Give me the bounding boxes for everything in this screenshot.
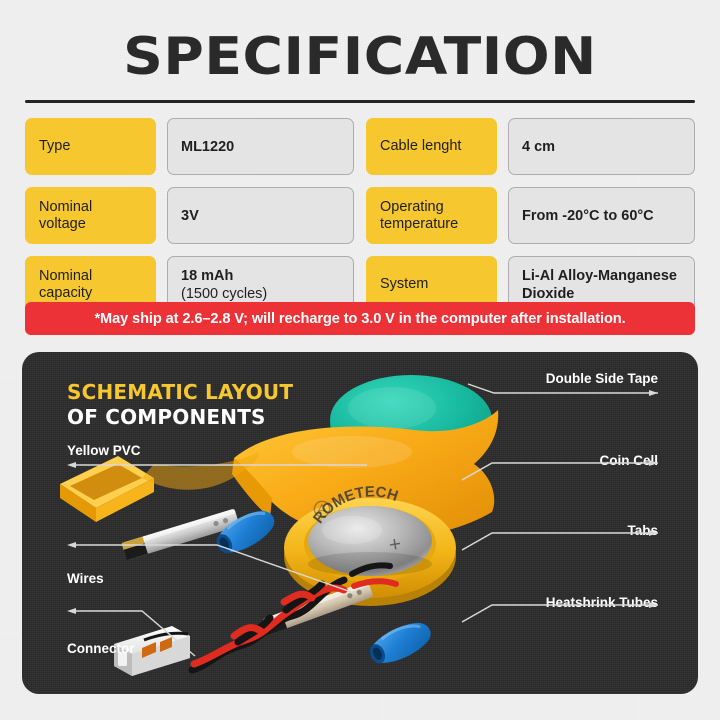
spec-value: 3V xyxy=(167,187,354,244)
heatshrink-tube-lower xyxy=(365,616,436,670)
spec-value: From -20°C to 60°C xyxy=(508,187,695,244)
spec-label: Cable lenght xyxy=(366,118,497,175)
spec-row: Cable lenght 4 cm xyxy=(366,118,695,175)
spec-column-right: Cable lenght 4 cm Operatingtemperature F… xyxy=(366,118,695,313)
callout-yellow-pvc: Yellow PVC xyxy=(67,448,367,470)
spec-label: Nominalvoltage xyxy=(25,187,156,244)
leader-line xyxy=(462,446,658,480)
callout-tabs: Tabs xyxy=(462,516,658,550)
leader-line xyxy=(67,594,197,668)
spec-value-main: From -20°C to 60°C xyxy=(522,208,654,224)
leader-line xyxy=(468,376,658,398)
spec-row: Type ML1220 xyxy=(25,118,354,175)
callout-double-side-tape: Double Side Tape xyxy=(468,376,658,398)
page-title: SPECIFICATION xyxy=(0,26,720,88)
spec-label: Type xyxy=(25,118,156,175)
leader-line xyxy=(67,448,367,470)
title-divider xyxy=(25,100,695,103)
spec-value-main: 18 mAh xyxy=(181,268,233,284)
leader-line xyxy=(462,588,658,622)
callout-connector: Connector xyxy=(67,594,197,668)
spec-row: Operatingtemperature From -20°C to 60°C xyxy=(366,187,695,244)
callout-heatshrink-tubes: Heatshrink Tubes xyxy=(462,588,658,622)
callout-wires: Wires xyxy=(67,528,357,598)
spec-value: ML1220 xyxy=(167,118,354,175)
spec-value: 4 cm xyxy=(508,118,695,175)
leader-line xyxy=(462,516,658,550)
spec-value-main: ML1220 xyxy=(181,139,234,155)
spec-value-sub: Dioxide xyxy=(522,286,574,302)
spec-row: Nominalvoltage 3V xyxy=(25,187,354,244)
spec-value-main: 3V xyxy=(181,208,199,224)
spec-value-main: Li-Al Alloy-Manganese xyxy=(522,268,677,284)
spec-value-sub: (1500 cycles) xyxy=(181,286,267,302)
schematic-panel: SCHEMATIC LAYOUT OF COMPONENTS xyxy=(22,352,698,694)
leader-line xyxy=(67,528,357,598)
spec-column-left: Type ML1220 Nominalvoltage 3V Nominalcap… xyxy=(25,118,354,313)
shipping-voltage-note: *May ship at 2.6–2.8 V; will recharge to… xyxy=(25,302,695,335)
specification-infographic: SPECIFICATION Type ML1220 Nominalvoltage… xyxy=(0,0,720,720)
spec-value-main: 4 cm xyxy=(522,139,555,155)
spec-label: Operatingtemperature xyxy=(366,187,497,244)
callout-coin-cell: Coin Cell xyxy=(462,446,658,480)
specification-table: Type ML1220 Nominalvoltage 3V Nominalcap… xyxy=(25,118,695,313)
